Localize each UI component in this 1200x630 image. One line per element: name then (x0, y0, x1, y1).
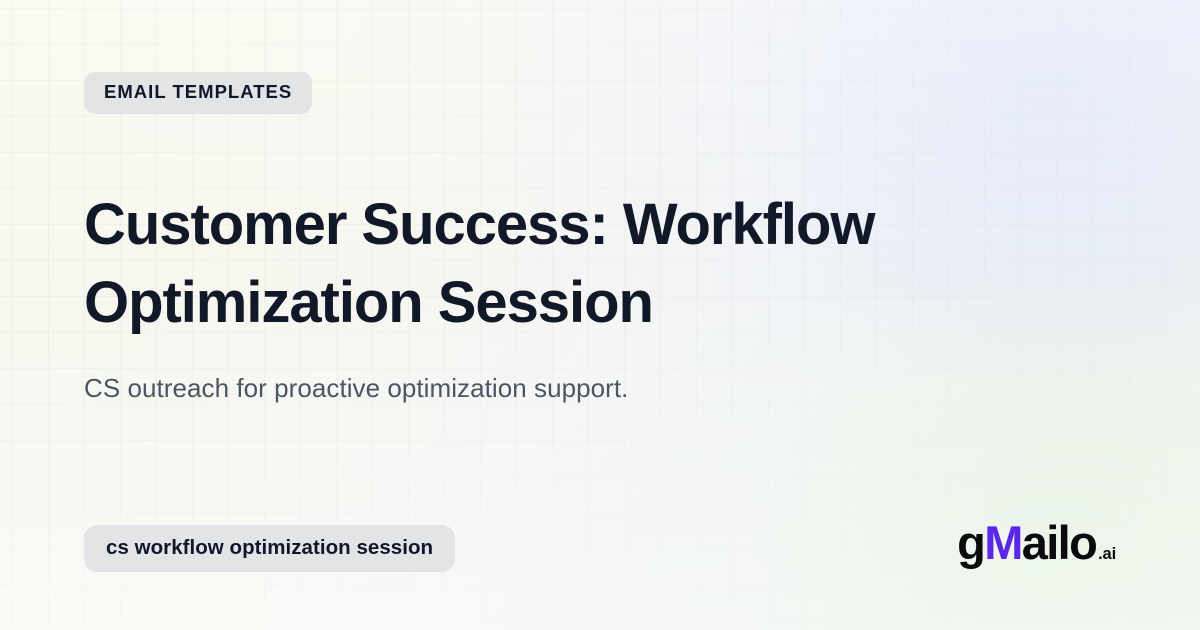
brand-wordmark: gMailo (957, 519, 1096, 566)
brand-logo: gMailo .ai (957, 519, 1116, 572)
headline-block: Customer Success: Workflow Optimization … (84, 186, 1116, 405)
slug-badge: cs workflow optimization session (84, 525, 455, 573)
eyebrow-row: EMAIL TEMPLATES (84, 72, 1116, 114)
og-share-card: EMAIL TEMPLATES Customer Success: Workfl… (0, 0, 1200, 630)
card-footer: cs workflow optimization session gMailo … (84, 519, 1116, 572)
page-subtitle: CS outreach for proactive optimization s… (84, 371, 924, 405)
card-content: EMAIL TEMPLATES Customer Success: Workfl… (0, 0, 1200, 630)
brand-accent-letter: M (984, 516, 1022, 569)
category-badge: EMAIL TEMPLATES (84, 72, 312, 114)
page-title: Customer Success: Workflow Optimization … (84, 186, 984, 342)
brand-tld: .ai (1098, 546, 1116, 563)
brand-rest-letters: ailo (1022, 516, 1096, 569)
brand-lead-letter: g (957, 516, 984, 569)
